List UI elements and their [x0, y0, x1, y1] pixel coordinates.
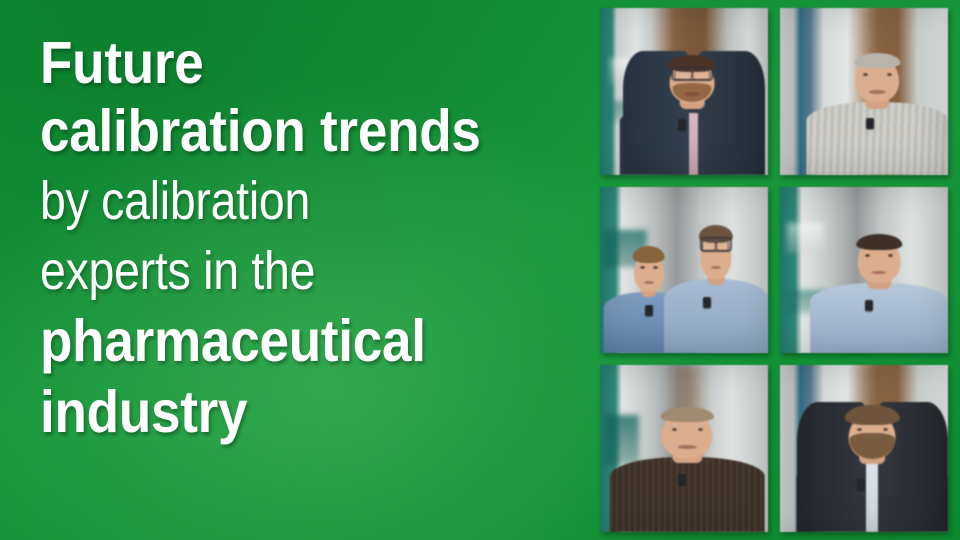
speaker-photo-grid — [600, 8, 948, 532]
person-figure — [610, 402, 765, 532]
person-figure — [797, 402, 948, 532]
headline-line-4: experts in the — [40, 236, 504, 306]
headline-line-6: industry — [40, 376, 526, 448]
headline-line-3: by calibration — [40, 166, 504, 236]
photo-cell-top-right — [780, 8, 948, 175]
photo-cell-bottom-left — [600, 365, 768, 532]
page-title: Future calibration trends by calibration… — [40, 30, 580, 448]
thumbnail-canvas: Future calibration trends by calibration… — [0, 0, 960, 540]
photo-cell-middle-left — [600, 187, 768, 354]
photo-cell-middle-right — [780, 187, 948, 354]
headline-line-2: calibration trends — [40, 96, 526, 166]
headline-line-1: Future — [40, 30, 526, 96]
person-figure — [810, 230, 948, 353]
photo-cell-top-left — [600, 8, 768, 175]
person-figure — [807, 48, 948, 175]
photo-cell-bottom-right — [780, 365, 948, 532]
person-figure — [664, 220, 768, 353]
headline-line-5: pharmaceutical — [40, 306, 526, 376]
person-figure — [620, 51, 764, 174]
